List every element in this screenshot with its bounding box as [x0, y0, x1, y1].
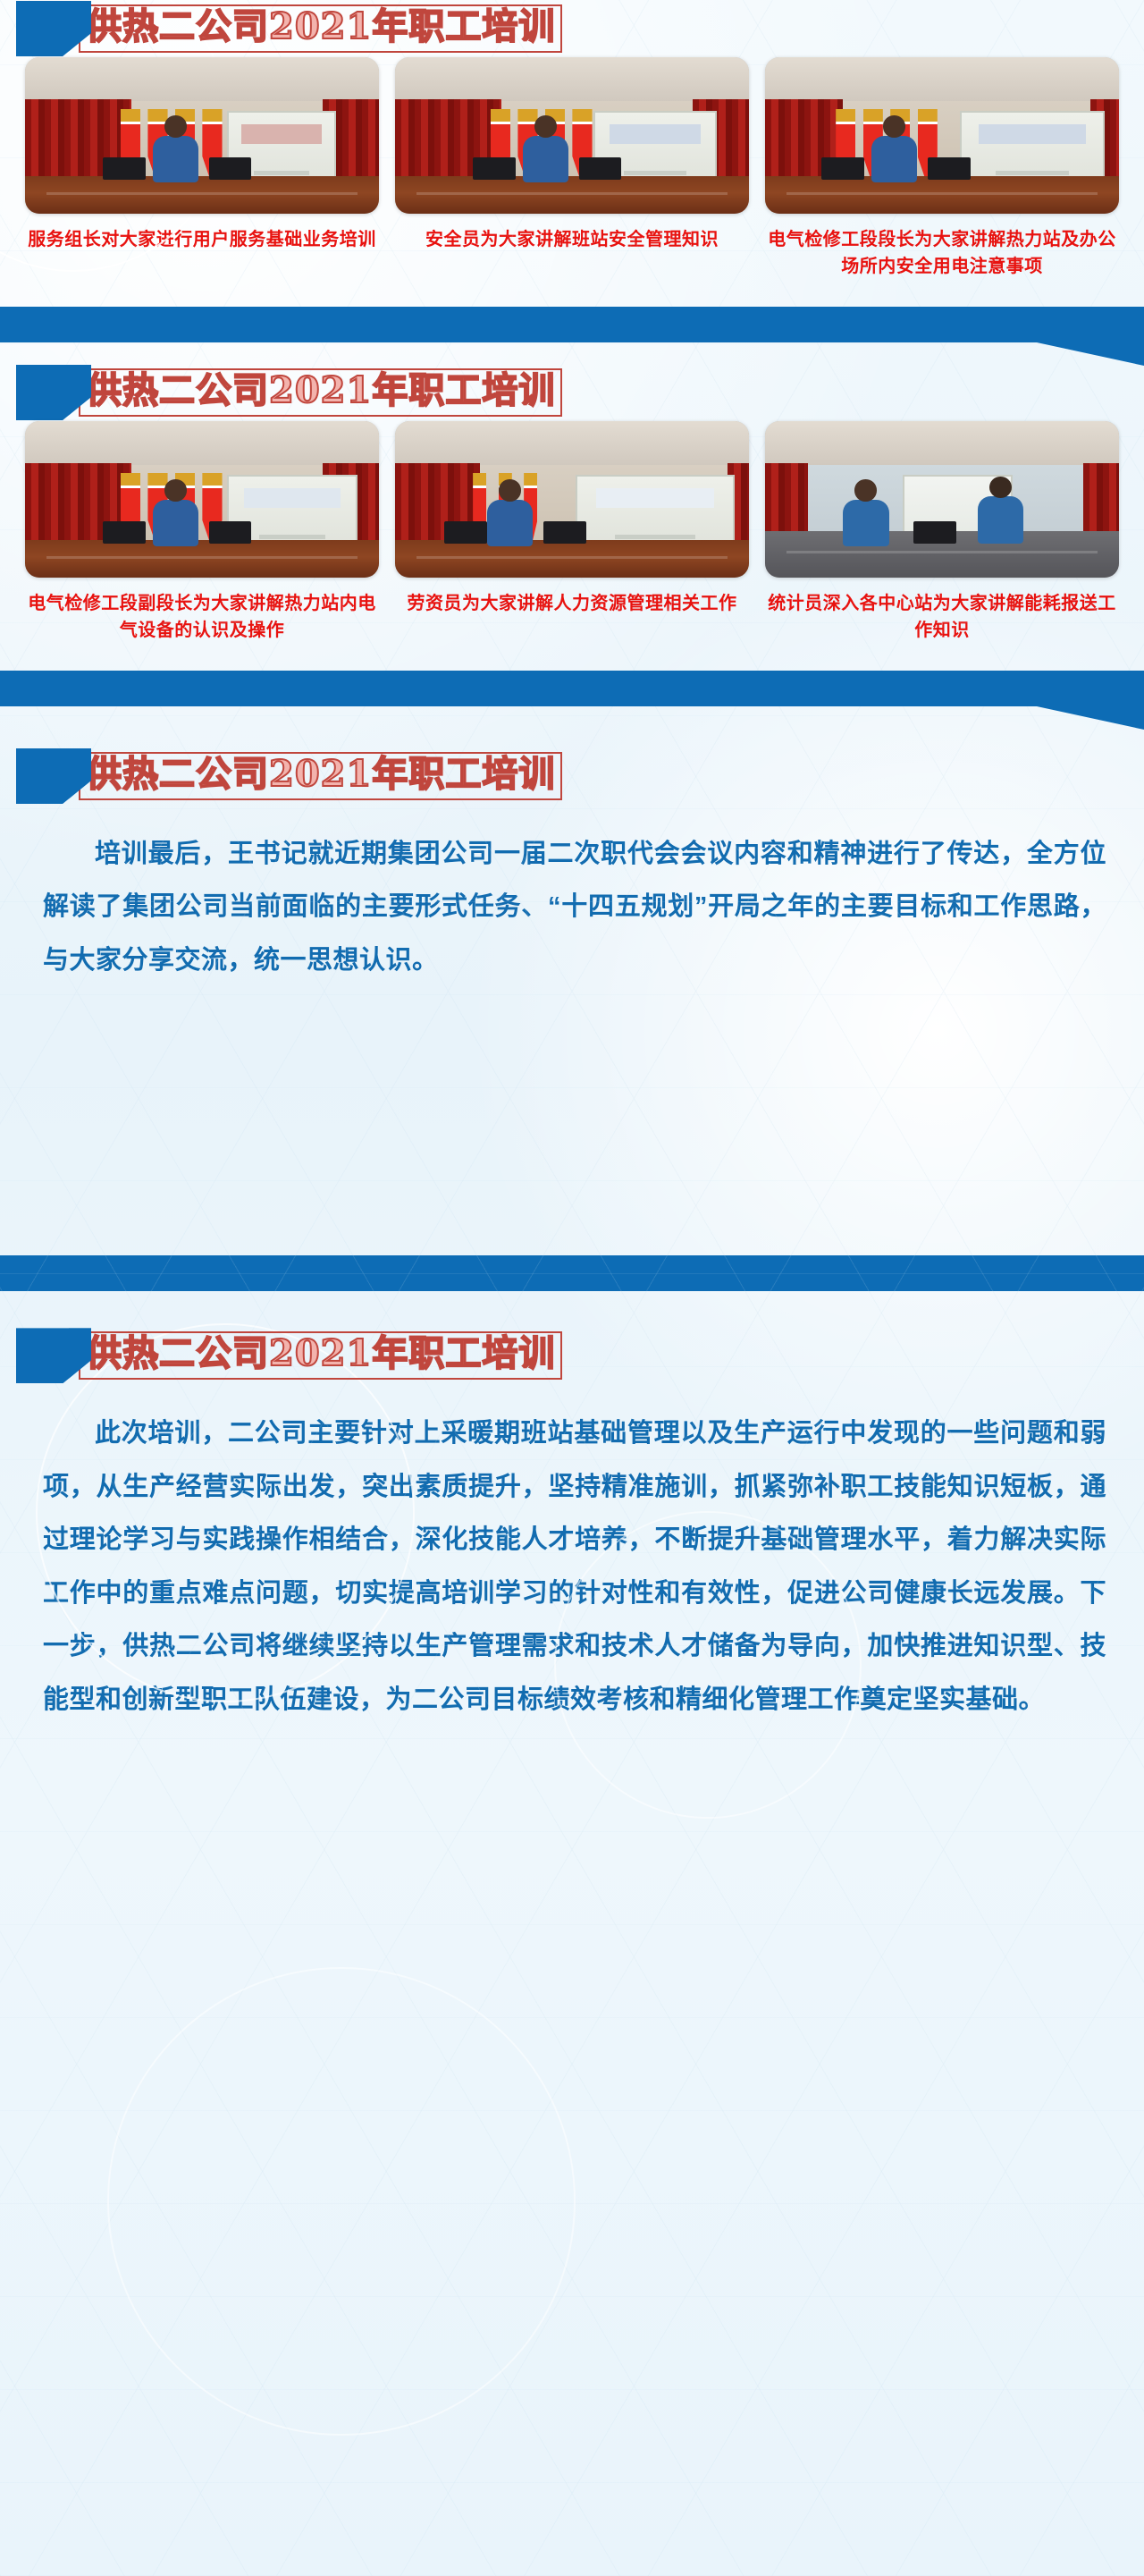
photo-cell: 统计员深入各中心站为大家讲解能耗报送工作知识 [765, 421, 1119, 644]
training-photo-4 [25, 421, 379, 578]
divider-band-3 [0, 1255, 1144, 1291]
section-title-4: 供热二公司2021年职工培训 [79, 1331, 562, 1380]
photo-caption: 安全员为大家讲解班站安全管理知识 [395, 226, 749, 253]
section-title-3: 供热二公司2021年职工培训 [79, 752, 562, 800]
section-header-3: 供热二公司2021年职工培训 [0, 747, 1144, 805]
photo-caption: 服务组长对大家进行用户服务基础业务培训 [25, 226, 379, 253]
training-photo-6 [765, 421, 1119, 578]
divider-band-1 [0, 307, 1144, 342]
poster-page: 供热二公司2021年职工培训 服务组长对大家进行用户服务基础业务培训 [0, 0, 1144, 2576]
training-photo-2 [395, 57, 749, 214]
photo-row-2: 电气检修工段副段长为大家讲解热力站内电气设备的认识及操作 劳资员为大家讲解人力资… [0, 421, 1144, 644]
training-photo-3 [765, 57, 1119, 214]
section-header-1: 供热二公司2021年职工培训 [0, 0, 1144, 57]
photo-caption: 电气检修工段副段长为大家讲解热力站内电气设备的认识及操作 [25, 590, 379, 644]
photo-caption: 劳资员为大家讲解人力资源管理相关工作 [395, 590, 749, 617]
photo-cell: 劳资员为大家讲解人力资源管理相关工作 [395, 421, 749, 644]
photo-row-1: 服务组长对大家进行用户服务基础业务培训 安全员为大家讲解班站安全管理知识 [0, 57, 1144, 280]
section-header-2: 供热二公司2021年职工培训 [0, 364, 1144, 421]
body-paragraph-2: 此次培训，二公司主要针对上采暖期班站基础管理以及生产运行中发现的一些问题和弱项，… [0, 1384, 1144, 1727]
divider-band-2 [0, 671, 1144, 706]
photo-cell: 安全员为大家讲解班站安全管理知识 [395, 57, 749, 280]
training-photo-5 [395, 421, 749, 578]
training-photo-1 [25, 57, 379, 214]
photo-cell: 电气检修工段段长为大家讲解热力站及办公场所内安全用电注意事项 [765, 57, 1119, 280]
photo-caption: 统计员深入各中心站为大家讲解能耗报送工作知识 [765, 590, 1119, 644]
section-title-2: 供热二公司2021年职工培训 [79, 368, 562, 417]
section-title-1: 供热二公司2021年职工培训 [79, 4, 562, 53]
photo-cell: 服务组长对大家进行用户服务基础业务培训 [25, 57, 379, 280]
photo-caption: 电气检修工段段长为大家讲解热力站及办公场所内安全用电注意事项 [765, 226, 1119, 280]
section-header-4: 供热二公司2021年职工培训 [0, 1327, 1144, 1384]
body-paragraph-1: 培训最后，王书记就近期集团公司一届二次职代会会议内容和精神进行了传达，全方位解读… [0, 805, 1144, 987]
photo-cell: 电气检修工段副段长为大家讲解热力站内电气设备的认识及操作 [25, 421, 379, 644]
